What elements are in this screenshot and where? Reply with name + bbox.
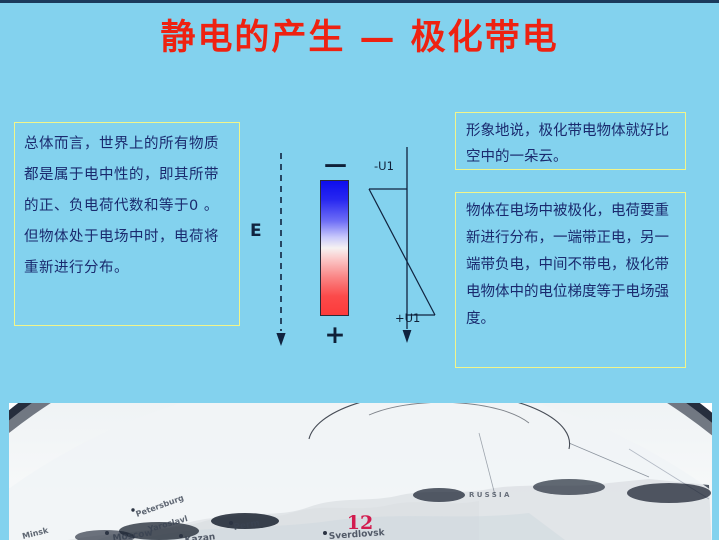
textbox-polarization: 物体在电场中被极化，电荷要重新进行分布，一端带正电，另一端带负电，中间不带电，极… (455, 192, 686, 368)
negative-charge-sign: — (324, 155, 346, 175)
polarization-diagram: E — + -U1 +U1 (240, 143, 440, 363)
positive-charge-sign: + (324, 324, 346, 346)
polarized-object-gradient-bar (320, 180, 349, 316)
slide-canvas: 静电的产生 — 极化带电 总体而言，世界上的所有物质都是属于电中性的，即其所带的… (0, 0, 719, 540)
page-title: 静电的产生 — 极化带电 (0, 17, 719, 59)
map-label-russia: RUSSIA (469, 491, 512, 499)
textbox-cloud-analogy: 形象地说，极化带电物体就好比空中的一朵云。 (455, 112, 686, 170)
label-plus-u1: +U1 (395, 311, 420, 325)
label-minus-u1: -U1 (374, 159, 394, 173)
page-number: 12 (346, 512, 374, 534)
textbox-neutrality: 总体而言，世界上的所有物质都是属于电中性的，即其所带的正、负电荷代数和等于0 。… (14, 122, 240, 326)
downward-dashed-arrow-icon (273, 153, 289, 348)
electric-field-label: E (250, 221, 262, 241)
